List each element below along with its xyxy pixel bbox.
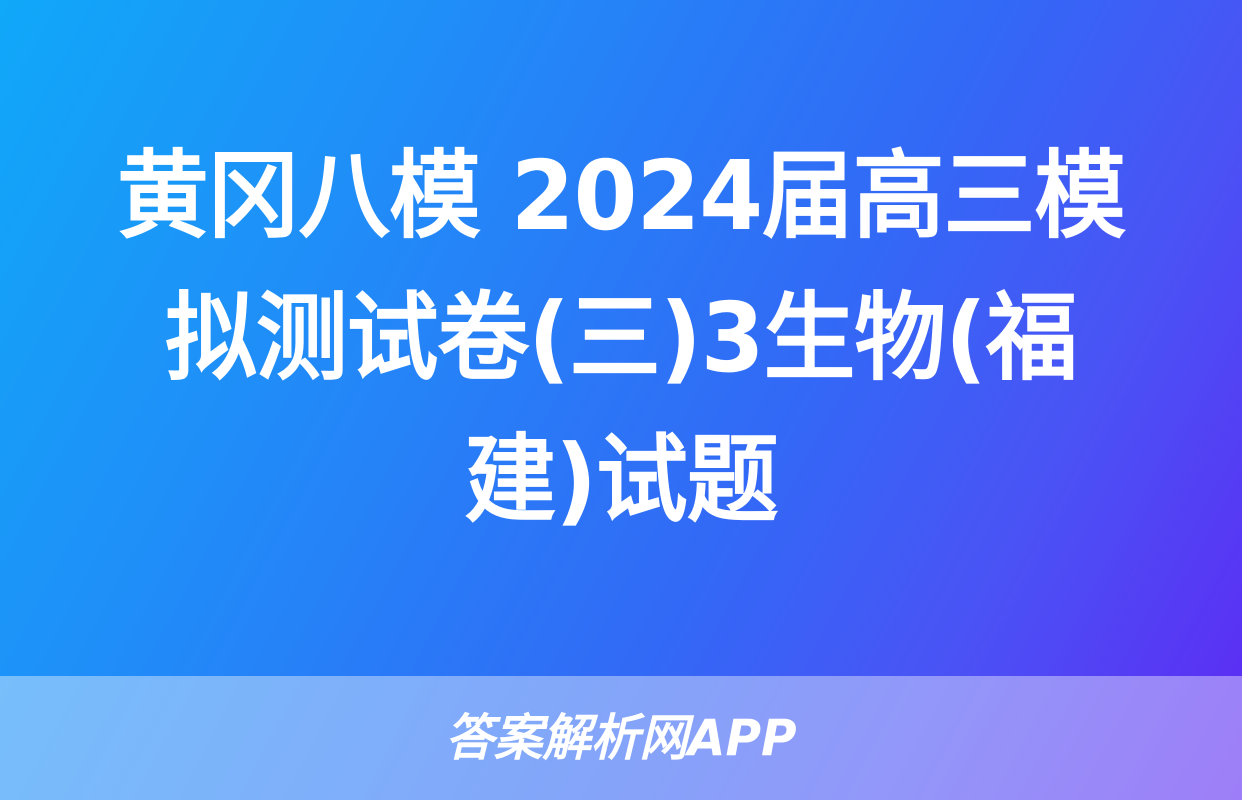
brand-watermark: 答案解析网APP	[445, 711, 796, 765]
footer-content: 答案解析网APP	[0, 676, 1242, 800]
poster-canvas: 黄冈八模 2024届高三模拟测试卷(三)3生物(福建)试题 答案解析网APP	[0, 0, 1242, 800]
page-title: 黄冈八模 2024届高三模拟测试卷(三)3生物(福建)试题	[102, 125, 1139, 551]
footer-brand-band: 答案解析网APP	[0, 676, 1242, 800]
poster-title-region: 黄冈八模 2024届高三模拟测试卷(三)3生物(福建)试题	[0, 0, 1242, 676]
